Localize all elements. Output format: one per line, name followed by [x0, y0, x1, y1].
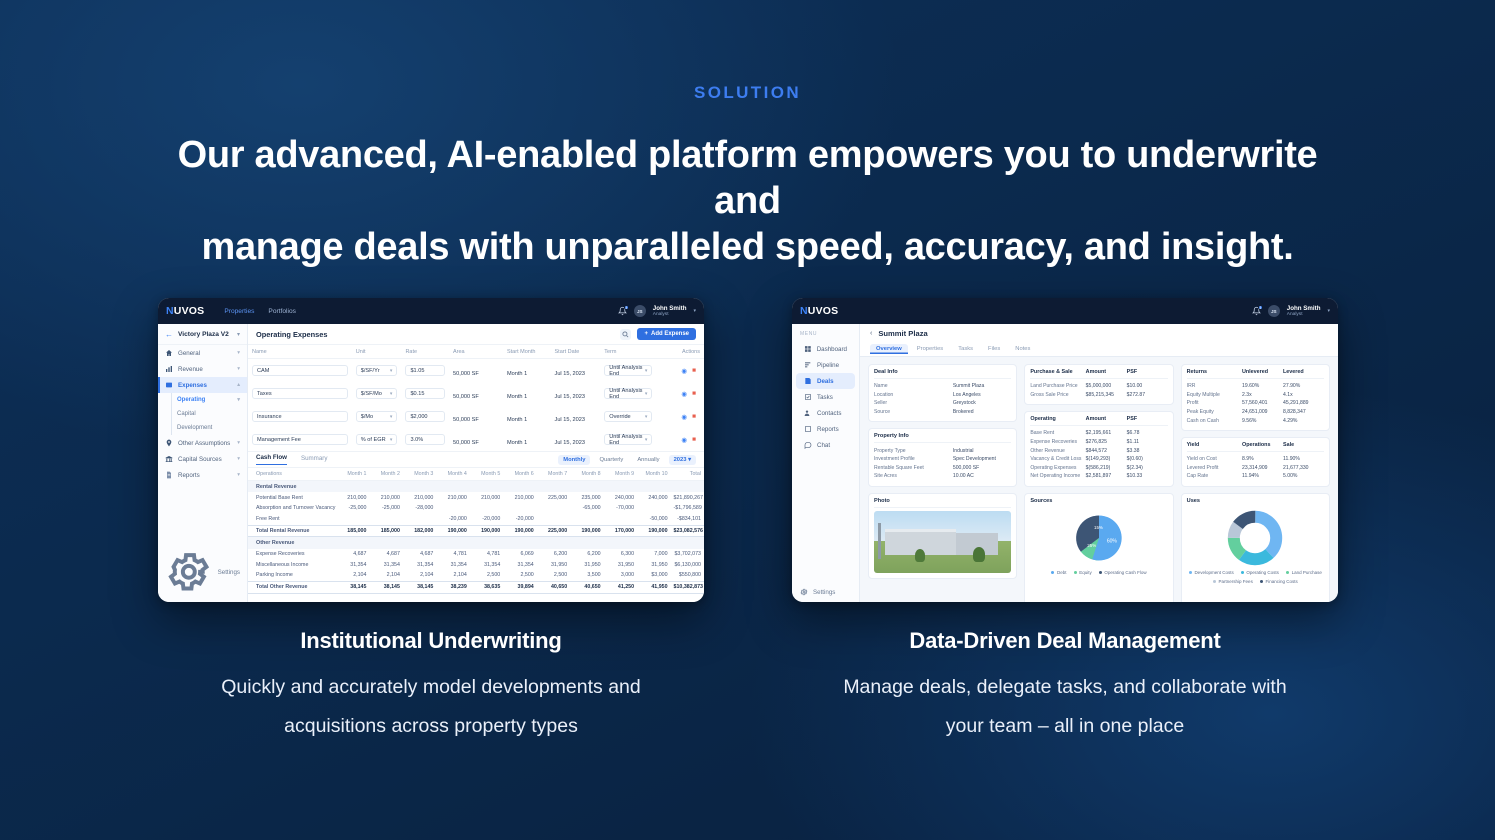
user-menu[interactable]: John Smith Analyst	[653, 305, 687, 318]
sidebar-item-label: Dashboard	[817, 346, 847, 353]
col-month-6: Month 6	[503, 468, 536, 481]
card-header-row: YieldOperationsSale	[1187, 442, 1324, 452]
overview-grid: Deal Info NameSummit Plaza LocationLos A…	[860, 357, 1338, 597]
cell: 6,300	[604, 549, 637, 560]
sidebar-subitem-capital[interactable]: Capital	[158, 407, 247, 421]
cell: 38,145	[403, 581, 436, 593]
info-row: Rentable Square Feet500,000 SF	[874, 464, 1011, 473]
expense-unit-select[interactable]: $/SF/Mo▾	[356, 388, 398, 399]
legend-item: Operating Cash Flow	[1099, 570, 1147, 575]
user-menu[interactable]: John Smith Analyst	[1287, 305, 1321, 318]
legend-item: Development Costs	[1189, 570, 1234, 575]
left-caption: Institutional Underwriting Quickly and a…	[158, 628, 704, 746]
expense-rate-input[interactable]: $2,000	[405, 411, 445, 422]
info-row: Investment ProfileSpec Development	[874, 455, 1011, 464]
chevron-down-icon: ▾	[237, 472, 240, 478]
cell: 210,000	[436, 492, 469, 503]
view-icon[interactable]: ◉	[681, 390, 687, 398]
slice-label-equity: 25%	[1087, 543, 1096, 548]
deal-name: Summit Plaza	[878, 329, 927, 338]
sidebar-item-label: Expenses	[178, 382, 232, 389]
sidebar-item-reports[interactable]: Reports ▾	[158, 467, 247, 483]
expense-start-date[interactable]: Jul 15, 2023	[555, 417, 585, 423]
deal-management-app-screenshot: NUVOS 3 JS John Smith Analyst ▾	[792, 298, 1338, 602]
returns-column: ReturnsUnleveredLevered IRR19.60%27.90% …	[1181, 364, 1330, 590]
table-row: Expense Recoveries 4,687 4,687 4,687 4,7…	[248, 549, 704, 560]
cell-total: $6,130,000	[671, 559, 704, 570]
sidebar-item-label: Reports	[178, 472, 232, 479]
cell: 2,104	[336, 570, 369, 581]
top-nav-portfolios[interactable]: Portfolios	[268, 308, 296, 315]
cell: 38,145	[336, 581, 369, 593]
table-row: Profit57,560,40145,291,889	[1187, 399, 1324, 408]
chart-legend: Development Costs Operating Costs Land P…	[1187, 570, 1324, 584]
cell: 31,354	[336, 559, 369, 570]
col-start-date[interactable]: Start Date	[551, 345, 601, 359]
expense-area: 50,000 SF	[453, 394, 479, 400]
sidebar-item-deals[interactable]: Deals	[796, 373, 855, 389]
app-body: MENU Dashboard Pipeline Deals	[792, 324, 1338, 602]
cell: 31,950	[537, 559, 570, 570]
col-area[interactable]: Area	[449, 345, 503, 359]
expense-rate-input[interactable]: $0.15	[405, 388, 445, 399]
cell	[369, 514, 402, 525]
cell	[537, 503, 570, 514]
cell: 2,500	[537, 570, 570, 581]
cell: 4,687	[369, 549, 402, 560]
expense-term-select[interactable]: Until Analysis End▾	[604, 434, 652, 445]
cell: 31,354	[503, 559, 536, 570]
table-row: Yield on Cost8.9%11.90%	[1187, 455, 1324, 464]
table-row: Equity Multiple2.3x4.1x	[1187, 391, 1324, 400]
app-topbar: NUVOS 3 JS John Smith Analyst ▾	[792, 298, 1338, 324]
sidebar-item-capital-sources[interactable]: Capital Sources ▾	[158, 451, 247, 467]
row-label: Potential Base Rent	[248, 492, 336, 503]
period-annually[interactable]: Annually	[632, 455, 664, 465]
expense-unit-select[interactable]: % of EGR▾	[356, 434, 398, 445]
expenses-table: Name Unit Rate Area Start Month Start Da…	[248, 345, 704, 451]
sidebar-item-general[interactable]: General ▾	[158, 345, 247, 361]
app-sidebar: MENU Dashboard Pipeline Deals	[792, 324, 860, 602]
cell: 2,104	[436, 570, 469, 581]
cell: 40,650	[570, 581, 603, 593]
legend-item: Equity	[1074, 570, 1092, 575]
notification-badge: 3	[1258, 305, 1263, 310]
top-nav-properties[interactable]: Properties	[224, 308, 254, 315]
cell: 3,000	[604, 570, 637, 581]
sidebar-item-label: Capital Sources	[178, 456, 232, 463]
cell: 210,000	[369, 492, 402, 503]
cell: 210,000	[403, 492, 436, 503]
tab-properties[interactable]: Properties	[911, 344, 949, 354]
cell: 190,000	[436, 525, 469, 537]
table-row: Parking Income 2,104 2,104 2,104 2,104 2…	[248, 570, 704, 581]
sidebar-subitem-operating[interactable]: Operating ▾	[158, 393, 247, 407]
solution-section: SOLUTION Our advanced, AI-enabled platfo…	[0, 0, 1495, 840]
user-role: Analyst	[1287, 312, 1321, 318]
card-header-row: Purchase & SaleAmountPSF	[1030, 369, 1167, 379]
slice-label-debt: 60%	[1107, 538, 1118, 544]
chart-title: Sources	[1030, 498, 1167, 507]
deal-info-card: Deal Info NameSummit Plaza LocationLos A…	[868, 364, 1017, 422]
col-month-5: Month 5	[470, 468, 503, 481]
cell: 31,354	[369, 559, 402, 570]
chevron-down-icon[interactable]: ▾	[237, 331, 240, 338]
page-title: Our advanced, AI-enabled platform empowe…	[143, 132, 1353, 270]
info-row: Site Acres10.00 AC	[874, 472, 1011, 481]
cell	[537, 514, 570, 525]
col-total: Total	[671, 468, 704, 481]
sidebar-item-revenue[interactable]: Revenue ▾	[158, 361, 247, 377]
sidebar-item-expenses[interactable]: Expenses ▴	[158, 377, 247, 393]
cell: -70,000	[604, 503, 637, 514]
cell: 170,000	[604, 525, 637, 537]
cell-total: -$1,796,589	[671, 503, 704, 514]
tab-cash-flow[interactable]: Cash Flow	[256, 454, 287, 465]
cell: 190,000	[470, 525, 503, 537]
col-unit[interactable]: Unit	[352, 345, 402, 359]
top-right-cluster: 3 JS John Smith Analyst ▾	[618, 298, 696, 324]
settings-label: Settings	[218, 569, 240, 576]
table-row: Base Rent$2,195,661$6.78	[1030, 429, 1167, 438]
expense-term-select[interactable]: Until Analysis End▾	[604, 365, 652, 376]
financials-column: Purchase & SaleAmountPSF Land Purchase P…	[1024, 364, 1173, 590]
uses-chart-card: Uses	[1181, 493, 1330, 602]
tab-files[interactable]: Files	[982, 344, 1006, 354]
col-month-10: Month 10	[637, 468, 670, 481]
caption-line-2: acquisitions across property types	[284, 715, 578, 737]
cell: 182,000	[403, 525, 436, 537]
cell: -65,000	[570, 503, 603, 514]
dashboard-icon	[804, 345, 812, 353]
col-rate[interactable]: Rate	[401, 345, 449, 359]
sidebar-subitem-label: Development	[177, 425, 212, 431]
avatar[interactable]: JS	[1268, 305, 1280, 317]
search-icon[interactable]	[620, 329, 631, 340]
photo-card: Photo	[868, 493, 1017, 579]
year-selector[interactable]: 2023 ▾	[669, 455, 696, 465]
row-label: Parking Income	[248, 570, 336, 581]
col-start-month[interactable]: Start Month	[503, 345, 551, 359]
cell: -25,000	[369, 503, 402, 514]
uses-donut-chart: Development Costs Operating Costs Land P…	[1187, 510, 1324, 584]
cell: -20,000	[470, 514, 503, 525]
notification-bell-icon[interactable]: 3	[1252, 306, 1261, 316]
cell: 2,500	[503, 570, 536, 581]
delete-icon[interactable]: ■	[692, 390, 696, 398]
cell: 210,000	[503, 492, 536, 503]
col-month-3: Month 3	[403, 468, 436, 481]
col-month-9: Month 9	[604, 468, 637, 481]
view-icon[interactable]: ◉	[681, 436, 687, 444]
cell	[403, 514, 436, 525]
expense-rate-input[interactable]: $1.05	[405, 365, 445, 376]
property-building-photo	[874, 511, 1011, 573]
expense-area: 50,000 SF	[453, 371, 479, 377]
sidebar-item-label: Chat	[817, 442, 830, 449]
headline-line-1: Our advanced, AI-enabled platform empowe…	[143, 132, 1353, 224]
group-total-row: Total Rental Revenue 185,000 185,000 182…	[248, 525, 704, 537]
sidebar-subitem-label: Capital	[177, 411, 196, 417]
chevron-down-icon[interactable]: ▾	[693, 308, 696, 314]
table-row: Miscellaneous Income 31,354 31,354 31,35…	[248, 559, 704, 570]
table-row: Expense Recoveries$276,825$1.11	[1030, 438, 1167, 447]
tab-summary[interactable]: Summary	[301, 455, 327, 465]
period-quarterly[interactable]: Quarterly	[594, 455, 628, 465]
cashflow-header-row: Operations Month 1 Month 2 Month 3 Month…	[248, 468, 704, 481]
plus-icon: +	[644, 331, 648, 337]
sidebar-item-other-assumptions[interactable]: Other Assumptions ▾	[158, 435, 247, 451]
table-row: Cap Rate11.94%5.00%	[1187, 472, 1324, 481]
expenses-main-pane: Operating Expenses + Add Expense	[248, 324, 704, 602]
property-info-card: Property Info Property TypeIndustrial In…	[868, 428, 1017, 486]
view-icon[interactable]: ◉	[681, 413, 687, 421]
col-month-4: Month 4	[436, 468, 469, 481]
expense-rate-input[interactable]: 3.0%	[405, 434, 445, 445]
table-row: Gross Sale Price$85,215,345$272.87	[1030, 391, 1167, 400]
cell: 4,687	[336, 549, 369, 560]
sidebar-item-settings[interactable]: Settings	[792, 588, 859, 596]
table-row: Land Purchase Price$5,000,000$10.00	[1030, 382, 1167, 391]
menu-label: MENU	[792, 324, 859, 341]
add-expense-button[interactable]: + Add Expense	[637, 328, 696, 340]
tab-overview[interactable]: Overview	[870, 344, 908, 354]
chart-legend: Debt Equity Operating Cash Flow	[1051, 570, 1146, 575]
chat-icon	[804, 441, 812, 449]
cell: 3,500	[570, 570, 603, 581]
sidebar-item-reports[interactable]: Reports	[796, 421, 855, 437]
table-row: Absorption and Turnover Vacancy -25,000 …	[248, 503, 704, 514]
cell: 185,000	[369, 525, 402, 537]
group-label: Other Revenue	[248, 537, 704, 549]
yield-card: YieldOperationsSale Yield on Cost8.9%11.…	[1181, 437, 1330, 487]
expense-start-month: Month 1	[507, 371, 527, 377]
right-caption: Data-Driven Deal Management Manage deals…	[792, 628, 1338, 746]
cell	[604, 514, 637, 525]
col-month-2: Month 2	[369, 468, 402, 481]
col-name[interactable]: Name	[248, 345, 352, 359]
cell	[436, 503, 469, 514]
back-arrow-icon[interactable]: ‹	[870, 330, 872, 337]
info-row: SellerGreystock	[874, 399, 1011, 408]
col-month-7: Month 7	[537, 468, 570, 481]
sidebar-item-label: Other Assumptions	[178, 440, 232, 447]
cell: 240,000	[637, 492, 670, 503]
logo-mark: N	[800, 305, 808, 317]
sidebar-item-label: Reports	[817, 426, 839, 433]
card-title: Photo	[874, 498, 1011, 508]
sidebar-item-settings[interactable]: Settings	[158, 548, 247, 596]
expense-unit-select[interactable]: $/SF/Yr▾	[356, 365, 398, 376]
expense-start-date[interactable]: Jul 15, 2023	[555, 371, 585, 377]
cell: 31,950	[637, 559, 670, 570]
gear-icon	[800, 588, 808, 596]
cell: 185,000	[336, 525, 369, 537]
avatar[interactable]: JS	[634, 305, 646, 317]
donut-svg	[1227, 510, 1283, 566]
deal-overview-pane: ‹ Summit Plaza Overview Properties Tasks…	[860, 324, 1338, 602]
legend-item: Debt	[1051, 570, 1066, 575]
delete-icon[interactable]: ■	[692, 367, 696, 375]
cell: 31,950	[570, 559, 603, 570]
card-title: Property Info	[874, 433, 1011, 443]
cashflow-tabs: Cash Flow Summary Monthly Quarterly Annu…	[248, 452, 704, 468]
slice-label-ocf: 15%	[1094, 525, 1103, 530]
cell: 7,000	[637, 549, 670, 560]
cell: 190,000	[637, 525, 670, 537]
col-term[interactable]: Term	[600, 345, 656, 359]
cell: 31,950	[604, 559, 637, 570]
notification-badge: 3	[624, 305, 629, 310]
row-label: Expense Recoveries	[248, 549, 336, 560]
sidebar-item-tasks[interactable]: Tasks	[796, 389, 855, 405]
expense-area: 50,000 SF	[453, 440, 479, 446]
chevron-down-icon[interactable]: ▾	[1327, 308, 1330, 314]
expense-term-select[interactable]: Override▾	[604, 411, 652, 422]
expenses-icon	[165, 381, 173, 389]
table-row: Other Revenue$844,572$3.38	[1030, 446, 1167, 455]
project-selector[interactable]: ← Victory Plaza V2 ▾	[158, 324, 247, 345]
expense-term-select[interactable]: Until Analysis End▾	[604, 388, 652, 399]
expense-name-input[interactable]: Insurance	[252, 411, 348, 422]
deals-icon	[804, 377, 812, 385]
expense-name-input[interactable]: CAM	[252, 365, 348, 376]
legend-item: Partnership Fees	[1213, 579, 1253, 584]
expense-start-month: Month 1	[507, 440, 527, 446]
info-row: LocationLos Angeles	[874, 391, 1011, 400]
group-total-row: Total Other Revenue 38,145 38,145 38,145…	[248, 581, 704, 593]
headline-line-2: manage deals with unparalleled speed, ac…	[143, 224, 1353, 270]
cell: 210,000	[470, 492, 503, 503]
table-row: CAM $/SF/Yr▾ $1.05 50,000 SF Month 1 Jul…	[248, 359, 704, 383]
cell: 40,650	[537, 581, 570, 593]
tab-tasks[interactable]: Tasks	[952, 344, 979, 354]
table-row: Insurance $/Mo▾ $2,000 50,000 SF Month 1…	[248, 405, 704, 428]
cell: 41,250	[604, 581, 637, 593]
cell: 4,781	[470, 549, 503, 560]
sidebar-item-dashboard[interactable]: Dashboard	[796, 341, 855, 357]
expense-name-input[interactable]: Taxes	[252, 388, 348, 399]
cell: 4,687	[403, 549, 436, 560]
returns-card: ReturnsUnleveredLevered IRR19.60%27.90% …	[1181, 364, 1330, 431]
legend-item: Land Purchase	[1286, 570, 1322, 575]
expense-start-month: Month 1	[507, 417, 527, 423]
top-nav: Properties Portfolios	[224, 308, 296, 315]
cell: -25,000	[336, 503, 369, 514]
project-sidebar: ← Victory Plaza V2 ▾ General ▾ Revenue	[158, 324, 248, 602]
card-title: Deal Info	[874, 369, 1011, 379]
pane-header: Operating Expenses + Add Expense	[248, 324, 704, 345]
user-name: John Smith	[1287, 305, 1321, 312]
cell	[470, 503, 503, 514]
cell: 6,200	[570, 549, 603, 560]
cell: 31,354	[403, 559, 436, 570]
back-arrow-icon[interactable]: ←	[165, 330, 173, 339]
chevron-down-icon: ▾	[237, 397, 240, 403]
col-month-1: Month 1	[336, 468, 369, 481]
cell: 39,894	[503, 581, 536, 593]
cell-total: -$834,101	[671, 514, 704, 525]
delete-icon[interactable]: ■	[692, 436, 696, 444]
app-body: ← Victory Plaza V2 ▾ General ▾ Revenue	[158, 324, 704, 602]
pin-icon	[165, 439, 173, 447]
reports-icon	[804, 425, 812, 433]
sources-pie-chart: 60% 25% 15% Debt Equity Operating Cash F…	[1030, 510, 1167, 575]
tasks-icon	[804, 393, 812, 401]
chevron-down-icon: ▾	[237, 366, 240, 372]
col-actions: Actions	[656, 345, 704, 359]
cell: 6,200	[537, 549, 570, 560]
group-header-row: Rental Revenue	[248, 481, 704, 493]
table-header-row: Name Unit Rate Area Start Month Start Da…	[248, 345, 704, 359]
row-label: Absorption and Turnover Vacancy	[248, 503, 336, 514]
cashflow-section: Cash Flow Summary Monthly Quarterly Annu…	[248, 451, 704, 594]
table-row: IRR19.60%27.90%	[1187, 382, 1324, 391]
group-header-row: Other Revenue	[248, 537, 704, 549]
expense-name-input[interactable]: Management Fee	[252, 434, 348, 445]
purchase-sale-card: Purchase & SaleAmountPSF Land Purchase P…	[1024, 364, 1173, 405]
chart-title: Uses	[1187, 498, 1324, 507]
cell-total: $550,800	[671, 570, 704, 581]
logo-mark: N	[166, 305, 174, 317]
underwriting-app-screenshot: NUVOS Properties Portfolios 3 JS John	[158, 298, 704, 602]
expense-unit-select[interactable]: $/Mo▾	[356, 411, 398, 422]
sidebar-subitem-development[interactable]: Development	[158, 421, 247, 435]
sidebar-item-label: Contacts	[817, 410, 841, 417]
deal-tabs: Overview Properties Tasks Files Notes	[860, 342, 1338, 357]
view-icon[interactable]: ◉	[681, 367, 687, 375]
caption-title: Institutional Underwriting	[158, 628, 704, 654]
period-toggle: Monthly Quarterly Annually 2023 ▾	[558, 455, 696, 465]
home-icon	[165, 349, 173, 357]
caption-line-1: Quickly and accurately model development…	[221, 676, 640, 698]
cell-total: $3,702,073	[671, 549, 704, 560]
screenshot-row: NUVOS Properties Portfolios 3 JS John	[0, 298, 1495, 818]
cell-total: $23,082,576	[671, 525, 704, 537]
settings-label: Settings	[813, 589, 835, 596]
period-monthly[interactable]: Monthly	[558, 455, 590, 465]
table-row: Management Fee % of EGR▾ 3.0% 50,000 SF …	[248, 428, 704, 451]
table-row: Free Rent -20,000 -20,000 -20,000	[248, 514, 704, 525]
info-row: Property TypeIndustrial	[874, 446, 1011, 455]
chevron-down-icon: ▾	[237, 350, 240, 356]
group-label: Rental Revenue	[248, 481, 704, 493]
legend-item: Financing Costs	[1260, 579, 1298, 584]
cell: -50,000	[637, 514, 670, 525]
cell: -28,000	[403, 503, 436, 514]
sidebar-item-contacts[interactable]: Contacts	[796, 405, 855, 421]
expense-start-date[interactable]: Jul 15, 2023	[555, 440, 585, 446]
contacts-icon	[804, 409, 812, 417]
cell: 31,354	[470, 559, 503, 570]
card-header-row: ReturnsUnleveredLevered	[1187, 369, 1324, 379]
col-month-8: Month 8	[570, 468, 603, 481]
cell	[570, 514, 603, 525]
delete-icon[interactable]: ■	[692, 413, 696, 421]
sidebar-item-chat[interactable]: Chat	[796, 437, 855, 453]
notification-bell-icon[interactable]: 3	[618, 306, 627, 316]
expense-start-month: Month 1	[507, 394, 527, 400]
nuvos-logo: NUVOS	[800, 305, 838, 317]
caption-body: Manage deals, delegate tasks, and collab…	[792, 668, 1338, 746]
sidebar-subitem-label: Operating	[177, 397, 205, 403]
cell: 2,104	[403, 570, 436, 581]
sidebar-item-pipeline[interactable]: Pipeline	[796, 357, 855, 373]
row-label: Miscellaneous Income	[248, 559, 336, 570]
expense-start-date[interactable]: Jul 15, 2023	[555, 394, 585, 400]
tab-notes[interactable]: Notes	[1009, 344, 1036, 354]
expense-area: 50,000 SF	[453, 417, 479, 423]
